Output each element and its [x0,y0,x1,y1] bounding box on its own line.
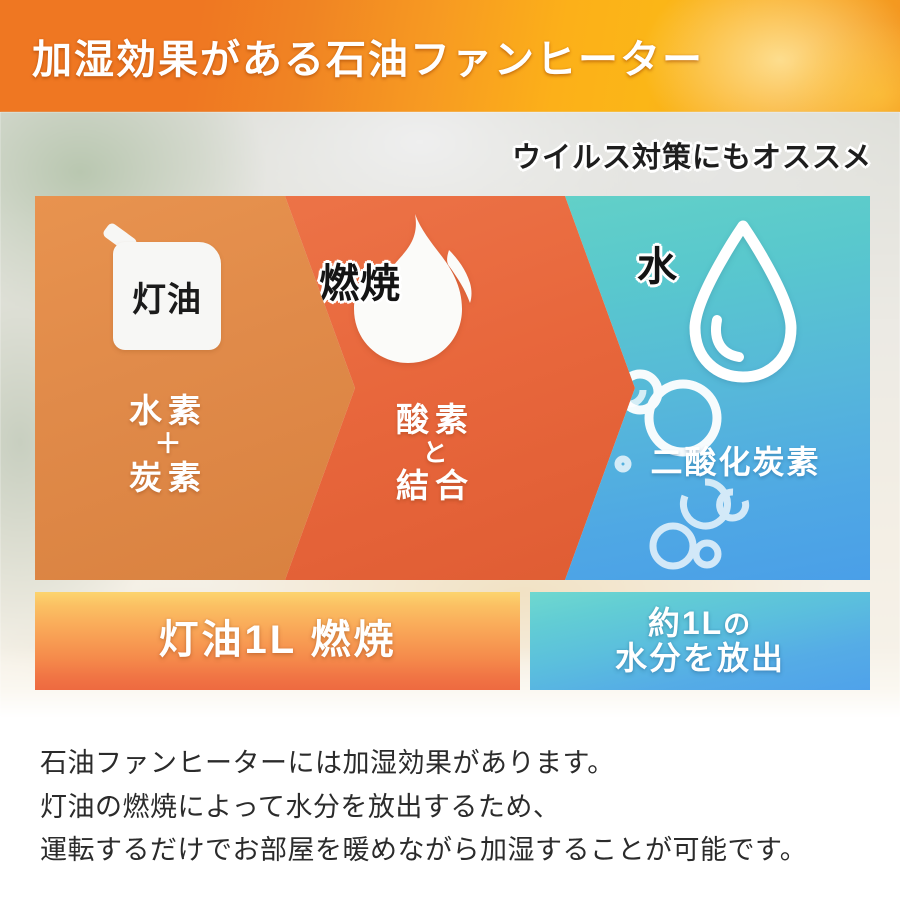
description-line-3: 運転するだけでお部屋を暖めながら加湿することが可能です。 [40,829,870,873]
chevron-text-kerosene: 水素 ＋ 炭素 [3,392,333,498]
kerosene-line2: 炭素 [129,459,207,496]
summary-bars: 灯油1L 燃焼 約1Lの 水分を放出 [35,592,870,690]
summary-bar-water-text: 約1Lの 水分を放出 [615,606,785,675]
kerosene-can-label: 灯油 [113,242,221,350]
header-banner: 加湿効果がある石油ファンヒーター [0,0,900,112]
description-line-2: 灯油の燃焼によって水分を放出するため、 [40,786,870,830]
kerosene-line1: 水素 [129,392,207,429]
banner-title: 加湿効果がある石油ファンヒーター [32,27,704,85]
combustion-line2: 結合 [396,467,474,504]
subtitle-recommendation: ウイルス対策にもオススメ [512,134,872,176]
water-drop-label: 水 [637,234,678,292]
summary-bar-kerosene: 灯油1L 燃焼 [35,592,520,690]
summary-water-line2: 水分を放出 [615,640,785,676]
banner-glow-2 [780,20,900,112]
kerosene-plus-sign: ＋ [3,429,333,461]
description-line-1: 石油ファンヒーターには加湿効果があります。 [40,742,870,786]
combustion-line1: 酸素 [396,401,474,438]
process-chevron-diagram: 灯油 水素 ＋ 炭素 燃焼 酸素 と 結合 [35,196,870,580]
water-drop-icon [677,214,809,386]
kerosene-can-icon: 灯油 [103,228,221,350]
description-block: 石油ファンヒーターには加湿効果があります。 灯油の燃焼によって水分を放出するため… [40,742,870,873]
summary-bar-kerosene-text: 灯油1L 燃焼 [158,619,396,662]
summary-water-line1-prefix: 約1L [648,605,723,641]
chevron-text-water: 二酸化炭素 [583,444,888,482]
summary-water-line1-suffix: の [723,610,752,640]
summary-bar-water: 約1Lの 水分を放出 [530,592,870,690]
